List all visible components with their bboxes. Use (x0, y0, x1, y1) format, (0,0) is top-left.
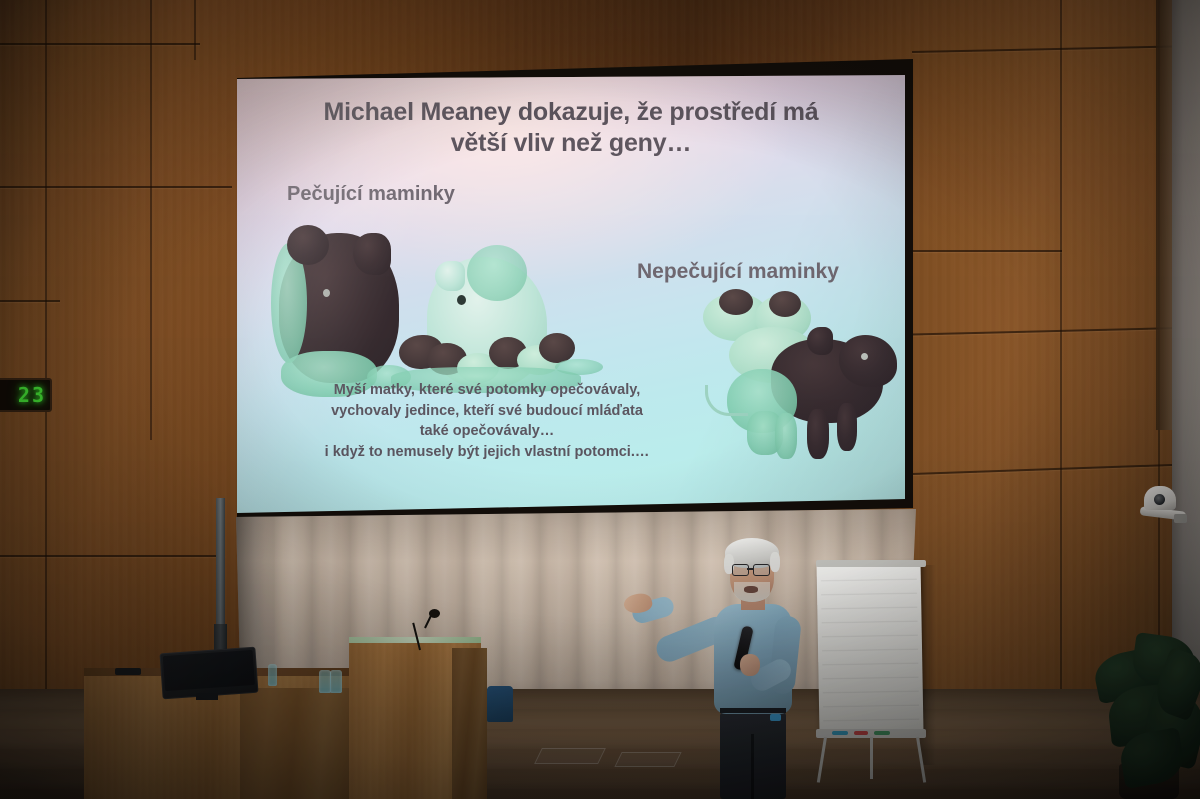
wall-vignette (0, 0, 1200, 799)
presentation-photo-scene: 23 (0, 0, 1200, 799)
